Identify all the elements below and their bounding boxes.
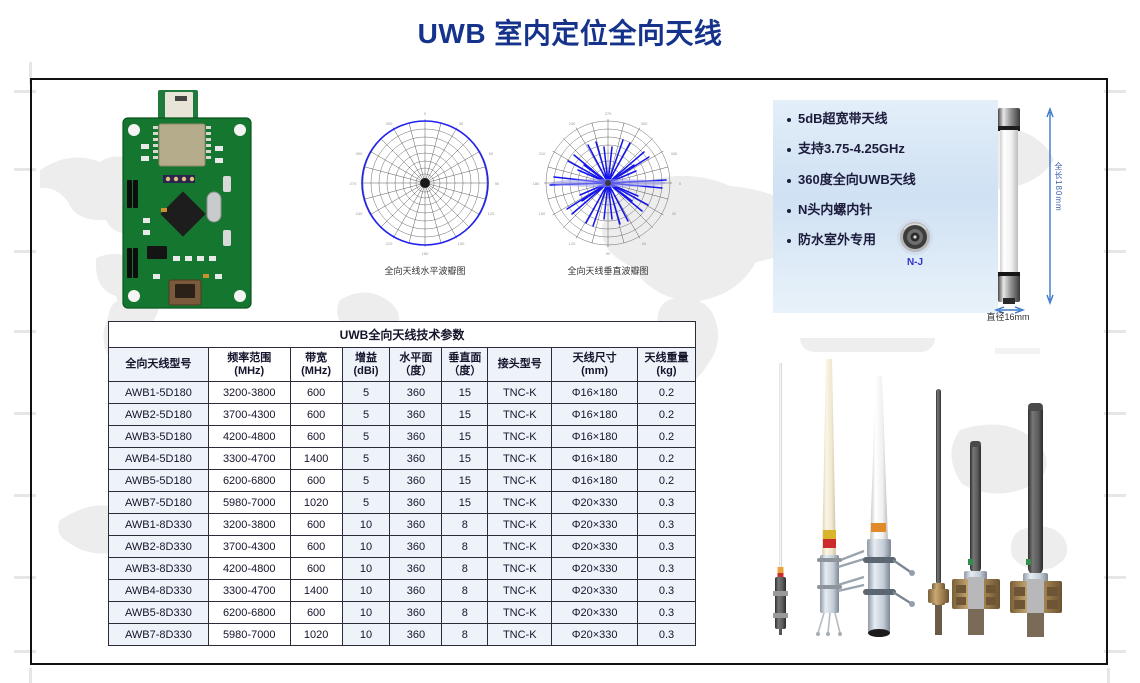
feature-label: 支持3.75-4.25GHz — [798, 142, 905, 156]
cell-vertical: 8 — [442, 624, 488, 646]
column-header-frequency: 频率范围 (MHz) — [208, 348, 290, 382]
cell-model: AWB7-8D330 — [109, 624, 209, 646]
svg-text:270: 270 — [605, 111, 612, 116]
cell-connector: TNC-K — [488, 514, 552, 536]
hero-antenna-image: 全长180mm 直径16mm — [955, 100, 1105, 330]
bullet-icon — [787, 209, 791, 213]
cell-horizontal: 360 — [390, 404, 442, 426]
cell-weight: 0.2 — [637, 404, 695, 426]
svg-text:30: 30 — [459, 121, 464, 126]
cell-weight: 0.3 — [637, 580, 695, 602]
cell-model: AWB3-5D180 — [109, 426, 209, 448]
table-title-row: UWB全向天线技术参数 — [109, 322, 696, 348]
cell-gain: 5 — [342, 470, 390, 492]
cell-bandwidth: 600 — [290, 470, 342, 492]
cell-horizontal: 360 — [390, 602, 442, 624]
cell-bandwidth: 600 — [290, 536, 342, 558]
cell-dimensions: Φ16×180 — [552, 404, 638, 426]
svg-text:150: 150 — [539, 211, 546, 216]
cell-dimensions: Φ16×180 — [552, 426, 638, 448]
cell-bandwidth: 1020 — [290, 624, 342, 646]
cell-frequency: 3200-3800 — [208, 514, 290, 536]
antenna-photo-2 — [816, 359, 864, 636]
cell-vertical: 15 — [442, 426, 488, 448]
cell-frequency: 6200-6800 — [208, 470, 290, 492]
cell-dimensions: Φ20×330 — [552, 536, 638, 558]
connector-label: N-J — [893, 257, 937, 268]
svg-text:330: 330 — [386, 121, 393, 126]
feature-label: 防水室外专用 — [798, 233, 876, 247]
antenna-product-photos — [760, 345, 1100, 640]
cell-gain: 10 — [342, 602, 390, 624]
cell-bandwidth: 600 — [290, 558, 342, 580]
cell-bandwidth: 600 — [290, 602, 342, 624]
table-row: AWB7-8D330 5980-7000 1020 10 360 8 TNC-K… — [109, 624, 696, 646]
cell-model: AWB1-5D180 — [109, 382, 209, 404]
cell-horizontal: 360 — [390, 492, 442, 514]
svg-text:180: 180 — [422, 251, 429, 256]
cell-model: AWB7-5D180 — [109, 492, 209, 514]
cell-frequency: 3300-4700 — [208, 448, 290, 470]
table-row: AWB3-8D330 4200-4800 600 10 360 8 TNC-K … — [109, 558, 696, 580]
cell-weight: 0.3 — [637, 536, 695, 558]
svg-text:120: 120 — [569, 241, 576, 246]
table-row: AWB5-5D180 6200-6800 600 5 360 15 TNC-K … — [109, 470, 696, 492]
cell-connector: TNC-K — [488, 448, 552, 470]
cell-vertical: 8 — [442, 558, 488, 580]
cell-weight: 0.3 — [637, 602, 695, 624]
cell-model: AWB2-5D180 — [109, 404, 209, 426]
cell-connector: TNC-K — [488, 580, 552, 602]
cell-frequency: 4200-4800 — [208, 426, 290, 448]
cell-dimensions: Φ20×330 — [552, 602, 638, 624]
cell-gain: 5 — [342, 404, 390, 426]
antenna-diameter-label: 直径16mm — [955, 310, 1061, 323]
cell-vertical: 8 — [442, 514, 488, 536]
cell-gain: 10 — [342, 624, 390, 646]
cell-dimensions: Φ20×330 — [552, 514, 638, 536]
cell-model: AWB4-8D330 — [109, 580, 209, 602]
cell-horizontal: 360 — [390, 536, 442, 558]
cell-bandwidth: 1020 — [290, 492, 342, 514]
cell-frequency: 6200-6800 — [208, 602, 290, 624]
cell-connector: TNC-K — [488, 426, 552, 448]
antenna-photo-3 — [863, 376, 915, 637]
table-row: AWB2-8D330 3700-4300 600 10 360 8 TNC-K … — [109, 536, 696, 558]
cell-connector: TNC-K — [488, 382, 552, 404]
cell-dimensions: Φ20×330 — [552, 558, 638, 580]
svg-text:240: 240 — [356, 211, 363, 216]
cell-gain: 5 — [342, 492, 390, 514]
cell-model: AWB5-5D180 — [109, 470, 209, 492]
horizontal-pattern-caption: 全向天线水平波瓣图 — [345, 264, 505, 277]
cell-horizontal: 360 — [390, 448, 442, 470]
frame-tick — [29, 668, 32, 683]
cell-vertical: 15 — [442, 492, 488, 514]
cell-model: AWB4-5D180 — [109, 448, 209, 470]
cell-vertical: 8 — [442, 602, 488, 624]
page-title: UWB 室内定位全向天线 — [0, 12, 1140, 52]
bullet-icon — [787, 148, 791, 152]
cell-vertical: 8 — [442, 536, 488, 558]
cell-model: AWB2-8D330 — [109, 536, 209, 558]
table-row: AWB4-8D330 3300-4700 1400 10 360 8 TNC-K… — [109, 580, 696, 602]
svg-text:60: 60 — [489, 151, 494, 156]
cell-weight: 0.2 — [637, 382, 695, 404]
svg-text:300: 300 — [356, 151, 363, 156]
svg-text:210: 210 — [386, 241, 393, 246]
vertical-radiation-pattern-chart: 270300330 03060 90120150 180210240 全向天线垂… — [528, 106, 688, 291]
bullet-icon — [787, 239, 791, 243]
table-header-row: 全向天线型号 频率范围 (MHz) 带宽 (MHz) 增益 (dBi) 水平面 … — [109, 348, 696, 382]
cell-weight: 0.2 — [637, 448, 695, 470]
cell-dimensions: Φ16×180 — [552, 470, 638, 492]
cell-horizontal: 360 — [390, 624, 442, 646]
uwb-module-pcb-image — [103, 88, 288, 313]
cell-bandwidth: 600 — [290, 426, 342, 448]
cell-frequency: 5980-7000 — [208, 492, 290, 514]
cell-frequency: 3300-4700 — [208, 580, 290, 602]
antenna-photo-4 — [928, 389, 949, 635]
svg-text:0: 0 — [424, 111, 427, 116]
column-header-horizontal-plane: 水平面 （度） — [390, 348, 442, 382]
frame-tick — [1107, 668, 1110, 683]
column-header-dimensions: 天线尺寸 (mm) — [552, 348, 638, 382]
bullet-icon — [787, 179, 791, 183]
feature-label: N头内螺内针 — [798, 203, 872, 217]
cell-connector: TNC-K — [488, 624, 552, 646]
svg-text:240: 240 — [569, 121, 576, 126]
column-header-weight: 天线重量 (kg) — [637, 348, 695, 382]
cell-weight: 0.2 — [637, 426, 695, 448]
cell-frequency: 3700-4300 — [208, 536, 290, 558]
svg-text:150: 150 — [458, 241, 465, 246]
cell-model: AWB5-8D330 — [109, 602, 209, 624]
cell-connector: TNC-K — [488, 492, 552, 514]
table-row: AWB5-8D330 6200-6800 600 10 360 8 TNC-K … — [109, 602, 696, 624]
cell-frequency: 3200-3800 — [208, 382, 290, 404]
cell-dimensions: Φ20×330 — [552, 624, 638, 646]
table-row: AWB1-8D330 3200-3800 600 10 360 8 TNC-K … — [109, 514, 696, 536]
svg-text:90: 90 — [495, 181, 500, 186]
cell-frequency: 3700-4300 — [208, 404, 290, 426]
horizontal-radiation-pattern-chart: 03060 90120150 180210240 270300330 全向天线水… — [345, 106, 505, 291]
cell-dimensions: Φ20×330 — [552, 492, 638, 514]
cell-weight: 0.3 — [637, 558, 695, 580]
cell-dimensions: Φ20×330 — [552, 580, 638, 602]
cell-gain: 10 — [342, 558, 390, 580]
table-row: AWB1-5D180 3200-3800 600 5 360 15 TNC-K … — [109, 382, 696, 404]
table-row: AWB4-5D180 3300-4700 1400 5 360 15 TNC-K… — [109, 448, 696, 470]
antenna-photo-6 — [1010, 403, 1062, 637]
cell-dimensions: Φ16×180 — [552, 382, 638, 404]
cell-horizontal: 360 — [390, 470, 442, 492]
cell-vertical: 15 — [442, 382, 488, 404]
cell-gain: 5 — [342, 448, 390, 470]
cell-bandwidth: 600 — [290, 382, 342, 404]
feature-label: 5dB超宽带天线 — [798, 112, 888, 126]
cell-model: AWB3-8D330 — [109, 558, 209, 580]
cell-vertical: 15 — [442, 470, 488, 492]
column-header-vertical-plane: 垂直面 （度） — [442, 348, 488, 382]
svg-text:120: 120 — [488, 211, 495, 216]
cell-bandwidth: 600 — [290, 404, 342, 426]
cell-connector: TNC-K — [488, 602, 552, 624]
column-header-connector: 接头型号 — [488, 348, 552, 382]
cell-vertical: 15 — [442, 448, 488, 470]
svg-text:60: 60 — [642, 241, 647, 246]
cell-frequency: 5980-7000 — [208, 624, 290, 646]
specification-table: UWB全向天线技术参数 全向天线型号 频率范围 (MHz) 带宽 (MHz) 增… — [108, 321, 696, 646]
vertical-pattern-caption: 全向天线垂直波瓣图 — [528, 264, 688, 277]
antenna-length-label: 全长180mm — [1053, 162, 1064, 212]
cell-connector: TNC-K — [488, 558, 552, 580]
cell-gain: 10 — [342, 580, 390, 602]
cell-gain: 5 — [342, 426, 390, 448]
n-connector-icon — [895, 218, 935, 256]
cell-model: AWB1-8D330 — [109, 514, 209, 536]
svg-text:0: 0 — [679, 181, 682, 186]
column-header-model: 全向天线型号 — [109, 348, 209, 382]
cell-bandwidth: 1400 — [290, 580, 342, 602]
column-header-gain: 增益 (dBi) — [342, 348, 390, 382]
n-connector-badge: N-J — [893, 218, 937, 268]
cell-vertical: 15 — [442, 404, 488, 426]
svg-text:180: 180 — [533, 181, 540, 186]
svg-text:90: 90 — [606, 251, 611, 256]
table-row: AWB3-5D180 4200-4800 600 5 360 15 TNC-K … — [109, 426, 696, 448]
svg-text:210: 210 — [539, 151, 546, 156]
cell-horizontal: 360 — [390, 514, 442, 536]
cell-horizontal: 360 — [390, 580, 442, 602]
cell-vertical: 8 — [442, 580, 488, 602]
table-title: UWB全向天线技术参数 — [109, 322, 696, 348]
cell-weight: 0.3 — [637, 514, 695, 536]
cell-bandwidth: 600 — [290, 514, 342, 536]
table-row: AWB2-5D180 3700-4300 600 5 360 15 TNC-K … — [109, 404, 696, 426]
bullet-icon — [787, 118, 791, 122]
product-datasheet-page: UWB 室内定位全向天线 — [0, 0, 1140, 683]
cell-dimensions: Φ16×180 — [552, 448, 638, 470]
table-row: AWB7-5D180 5980-7000 1020 5 360 15 TNC-K… — [109, 492, 696, 514]
cell-bandwidth: 1400 — [290, 448, 342, 470]
svg-text:30: 30 — [672, 211, 677, 216]
svg-text:270: 270 — [350, 181, 357, 186]
svg-text:300: 300 — [641, 121, 648, 126]
cell-frequency: 4200-4800 — [208, 558, 290, 580]
cell-gain: 5 — [342, 382, 390, 404]
cell-weight: 0.2 — [637, 470, 695, 492]
cell-weight: 0.3 — [637, 492, 695, 514]
cell-connector: TNC-K — [488, 404, 552, 426]
cell-horizontal: 360 — [390, 382, 442, 404]
cell-horizontal: 360 — [390, 426, 442, 448]
feature-label: 360度全向UWB天线 — [798, 173, 916, 187]
cell-connector: TNC-K — [488, 536, 552, 558]
antenna-photo-5 — [952, 441, 1000, 635]
cell-gain: 10 — [342, 536, 390, 558]
cell-gain: 10 — [342, 514, 390, 536]
cell-horizontal: 360 — [390, 558, 442, 580]
antenna-photo-1 — [773, 363, 788, 635]
svg-text:330: 330 — [671, 151, 678, 156]
cell-connector: TNC-K — [488, 470, 552, 492]
cell-weight: 0.3 — [637, 624, 695, 646]
column-header-bandwidth: 带宽 (MHz) — [290, 348, 342, 382]
